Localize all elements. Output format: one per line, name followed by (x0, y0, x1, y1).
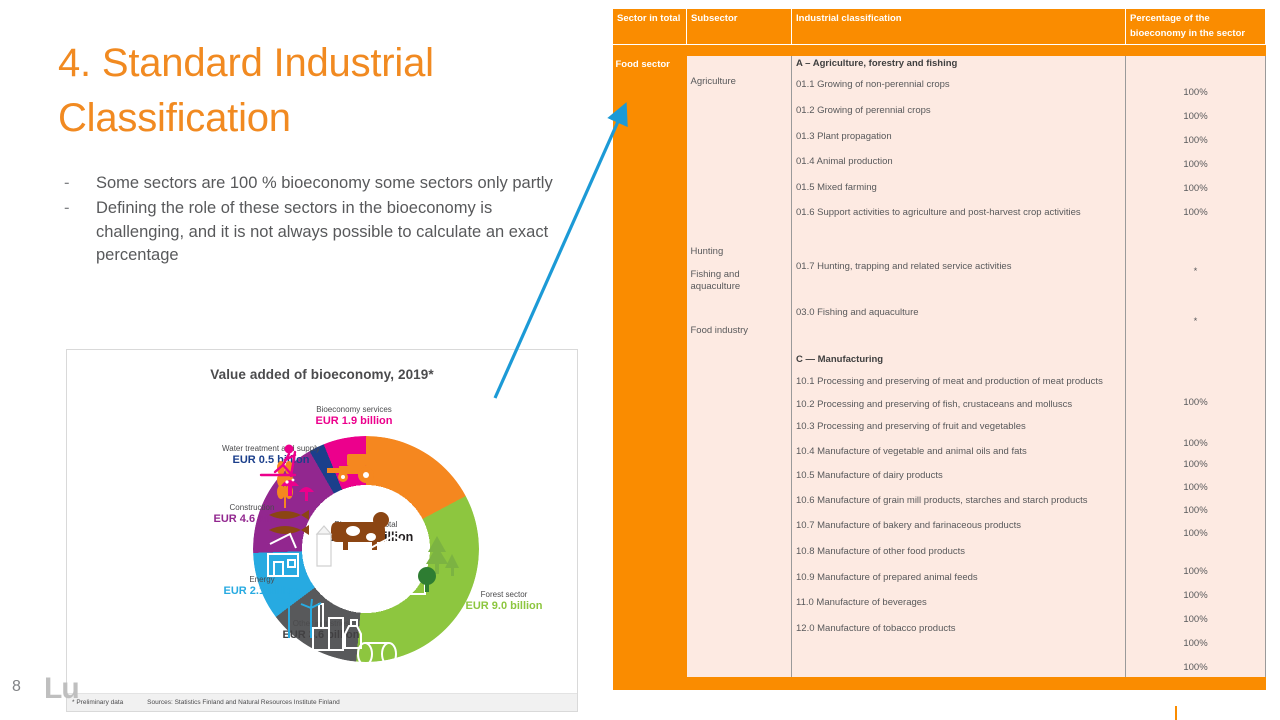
infographic-title: Value added of bioeconomy, 2019* (67, 367, 577, 382)
tractor-icon (325, 450, 383, 484)
bullet-item: - Some sectors are 100 % bioeconomy some… (58, 172, 568, 195)
percentage-value: 100% (1127, 436, 1264, 451)
bullet-marker: - (64, 197, 70, 220)
classification-text: 10.3 Processing and preserving of fruit … (796, 419, 1121, 436)
classification-text: 10.8 Manufacture of other food products (796, 544, 1121, 561)
percentage-value: 100% (1127, 457, 1264, 472)
subsector-label: Hunting (691, 246, 788, 258)
house-icon (243, 436, 279, 472)
spacer-cell (613, 45, 1266, 56)
percentage-value: 100% (1127, 660, 1264, 675)
classification-text: 12.0 Manufacture of tobacco products (796, 621, 1121, 638)
percentage-value: 100% (1127, 157, 1264, 172)
percentage-value: 100% (1127, 612, 1264, 627)
classification-text: 10.5 Manufacture of dairy products (796, 468, 1121, 485)
classification-text: 01.3 Plant propagation (796, 129, 1121, 146)
percentage-value: 100% (1127, 588, 1264, 603)
infographic-footer: * Preliminary data Sources: Statistics F… (67, 693, 577, 711)
subsector-label: Agriculture (691, 76, 788, 88)
subsector-label: Fishing and aquaculture (691, 269, 788, 294)
percentage-value: 100% (1127, 133, 1264, 148)
classification-text: 01.4 Animal production (796, 154, 1121, 171)
paper-rolls-icon (351, 634, 413, 674)
segment-value: EUR 9.0 billion (449, 600, 559, 613)
classification-text: 10.2 Processing and preserving of fish, … (796, 397, 1121, 414)
table-header-spacer (613, 45, 1266, 56)
percentage-value: 100% (1127, 564, 1264, 579)
classification-text: 10.1 Processing and preserving of meat a… (796, 374, 1121, 391)
construction-house-icon (258, 530, 318, 582)
segment-label-forest-sector: Forest sector EUR 9.0 billion (449, 590, 559, 613)
classification-text: 10.6 Manufacture of grain mill products,… (796, 493, 1121, 510)
group-heading: A – Agriculture, forestry and fishing (796, 58, 957, 69)
group-heading: C — Manufacturing (796, 354, 883, 365)
classification-text: 01.5 Mixed farming (796, 180, 1121, 197)
classification-text: 01.6 Support activities to agriculture a… (796, 205, 1121, 222)
percentage-value: 100% (1127, 395, 1264, 410)
forest-icon (363, 528, 459, 602)
infographic-sources: Sources: Statistics Finland and Natural … (147, 699, 340, 706)
bullet-text: Defining the role of these sectors in th… (96, 199, 548, 264)
classification-text: 10.7 Manufacture of bakery and farinaceo… (796, 518, 1121, 535)
sector-cell: Food sector (613, 56, 687, 677)
column-header-sector: Sector in total (613, 9, 687, 45)
table-header-row: Sector in total Subsector Industrial cla… (613, 9, 1266, 45)
bottom-bar-cell (613, 677, 1266, 690)
percentage-value: * (1127, 264, 1264, 279)
bullet-marker: - (64, 172, 70, 195)
page-number: 8 (12, 678, 21, 696)
classification-text: 01.7 Hunting, trapping and related servi… (796, 259, 1121, 276)
bullet-text: Some sectors are 100 % bioeconomy some s… (96, 174, 553, 192)
industrial-classification-table: Sector in total Subsector Industrial cla… (612, 8, 1266, 690)
column-header-classification: Industrial classification (792, 9, 1126, 45)
infographic-footnote: * Preliminary data (72, 699, 123, 706)
classification-text: 11.0 Manufacture of beverages (796, 595, 1121, 612)
subsector-label: Food industry (691, 325, 788, 337)
footer-brand-mark: Lu (44, 672, 79, 706)
segment-label-bioeconomy-services: Bioeconomy services EUR 1.9 billion (313, 405, 395, 428)
column-header-subsector: Subsector (687, 9, 792, 45)
percentage-value: 100% (1127, 480, 1264, 495)
table-bottom-bar (613, 677, 1266, 690)
bullet-list: - Some sectors are 100 % bioeconomy some… (58, 172, 568, 270)
classification-text: 10.4 Manufacture of vegetable and animal… (796, 444, 1121, 461)
classification-text: 01.1 Growing of non-perennial crops (796, 77, 1121, 94)
percentage-value: 100% (1127, 181, 1264, 196)
percentage-value: * (1127, 314, 1264, 329)
segment-value: EUR 1.9 billion (313, 415, 395, 428)
slide-canvas: 4. Standard Industrial Classification - … (0, 0, 1280, 720)
percentage-value: 100% (1127, 526, 1264, 541)
classification-text: 10.9 Manufacture of prepared animal feed… (796, 570, 1121, 587)
percentage-value: 100% (1127, 85, 1264, 100)
subsector-column-cell: Agriculture Hunting Fishing and aquacult… (687, 56, 792, 677)
table-body-row: Food sector Agriculture Hunting Fishing … (613, 56, 1266, 677)
timber-icon (323, 566, 377, 612)
percentage-column: 100% 100% 100% 100% 100% 100% * (1126, 56, 1266, 677)
bioeconomy-infographic: Value added of bioeconomy, 2019* (66, 349, 578, 712)
classification-text: 03.0 Fishing and aquaculture (796, 305, 1121, 322)
percentage-value: 100% (1127, 636, 1264, 651)
page-title: 4. Standard Industrial Classification (58, 36, 528, 146)
bullet-item: - Defining the role of these sectors in … (58, 197, 568, 267)
column-header-percentage: Percentage of the bioeconomy in the sect… (1126, 9, 1266, 45)
classification-column: A – Agriculture, forestry and fishing 01… (792, 56, 1126, 677)
percentage-value: 100% (1127, 205, 1264, 220)
segment-caption: Bioeconomy services (316, 405, 392, 414)
percentage-value: 100% (1127, 109, 1264, 124)
table-tail-line (1175, 706, 1177, 720)
wind-turbine-icon (275, 592, 331, 642)
segment-caption: Forest sector (481, 590, 528, 599)
percentage-value: 100% (1127, 503, 1264, 518)
classification-text: 01.2 Growing of perennial crops (796, 103, 1121, 120)
